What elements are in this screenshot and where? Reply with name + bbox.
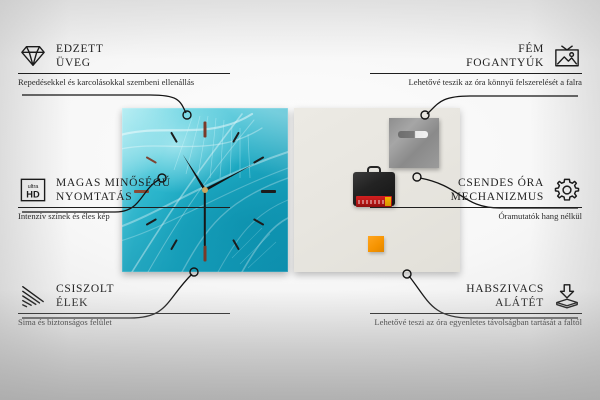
callout-description: Sima és biztonságos felület <box>18 317 230 329</box>
infographic-stage: EDZETT ÜVEG Repedésekkel és karcolásokka… <box>0 0 600 400</box>
callout-title: CSENDES ÓRA MECHANIZMUS <box>451 176 544 204</box>
callout-polished-edges[interactable]: CSISZOLT ÉLEK Sima és biztonságos felüle… <box>18 282 230 329</box>
ultra-hd-icon: ultra HD <box>18 177 48 203</box>
callout-header: ultra HD MAGAS MINŐSÉGŰ NYOMTATÁS <box>18 176 230 204</box>
callout-divider <box>18 73 230 74</box>
callout-foam-backing[interactable]: HABSZIVACS ALÁTÉT Lehetővé teszi az óra … <box>370 282 582 329</box>
hanger-slot <box>398 131 428 138</box>
callout-header: CSENDES ÓRA MECHANIZMUS <box>370 176 582 204</box>
callout-silent-mechanism[interactable]: CSENDES ÓRA MECHANIZMUS Óramutatók hang … <box>370 176 582 223</box>
callout-header: HABSZIVACS ALÁTÉT <box>370 282 582 310</box>
callout-header: FÉM FOGANTYÚK <box>370 42 582 70</box>
callout-tempered-glass[interactable]: EDZETT ÜVEG Repedésekkel és karcolásokka… <box>18 42 230 89</box>
callout-divider <box>370 313 582 314</box>
callout-description: Óramutatók hang nélkül <box>370 211 582 223</box>
callout-title: MAGAS MINŐSÉGŰ NYOMTATÁS <box>56 176 171 204</box>
callout-title: FÉM FOGANTYÚK <box>466 42 544 70</box>
callout-description: Lehetővé teszi az óra egyenletes távolsá… <box>370 317 582 329</box>
foam-pad-icon <box>552 283 582 309</box>
svg-text:HD: HD <box>26 189 40 199</box>
callout-description: Repedésekkel és karcolásokkal szembeni e… <box>18 77 230 89</box>
callout-header: CSISZOLT ÉLEK <box>18 282 230 310</box>
callout-title: EDZETT ÜVEG <box>56 42 104 70</box>
picture-hanger-icon <box>552 43 582 69</box>
callout-title: CSISZOLT ÉLEK <box>56 282 114 310</box>
diamond-icon <box>18 43 48 69</box>
callout-description: Lehetővé teszik az óra könnyű felszerelé… <box>370 77 582 89</box>
callout-metal-handles[interactable]: FÉM FOGANTYÚK Lehetővé teszik az óra kön… <box>370 42 582 89</box>
metal-hanger-plate <box>389 118 439 168</box>
polished-edge-icon <box>18 283 48 309</box>
callout-divider <box>18 313 230 314</box>
callout-title: HABSZIVACS ALÁTÉT <box>466 282 544 310</box>
callout-divider <box>370 73 582 74</box>
gear-icon <box>552 177 582 203</box>
callout-description: Intenzív színek és éles kép <box>18 211 230 223</box>
callout-high-quality-print[interactable]: ultra HD MAGAS MINŐSÉGŰ NYOMTATÁS Intenz… <box>18 176 230 223</box>
callout-divider <box>370 207 582 208</box>
foam-spacer-pad <box>368 236 384 252</box>
callout-divider <box>18 207 230 208</box>
callout-header: EDZETT ÜVEG <box>18 42 230 70</box>
